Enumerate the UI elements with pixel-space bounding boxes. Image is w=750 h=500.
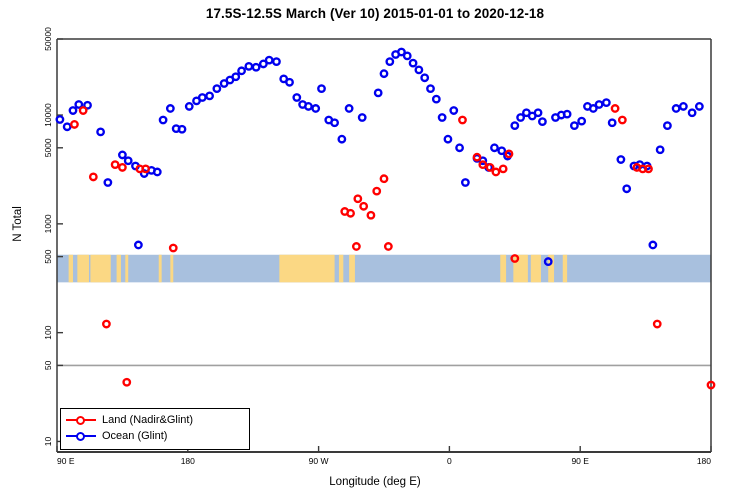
data-point	[186, 103, 192, 109]
data-point	[689, 110, 695, 116]
x-tick-label: 90 E	[571, 456, 589, 466]
data-point	[353, 243, 359, 249]
x-tick-label: 180	[697, 456, 711, 466]
data-point	[294, 94, 300, 100]
data-point	[654, 321, 660, 327]
data-point	[57, 116, 63, 122]
data-point	[70, 107, 76, 113]
data-point	[421, 75, 427, 81]
data-point	[512, 122, 518, 128]
mask-band-land-span	[90, 255, 110, 283]
x-tick-label: 180	[181, 456, 195, 466]
data-point	[603, 99, 609, 105]
legend-item-ocean: Ocean (Glint)	[66, 428, 244, 444]
legend: Land (Nadir&Glint) Ocean (Glint)	[60, 408, 250, 450]
data-point	[71, 121, 77, 127]
data-point	[331, 120, 337, 126]
data-point	[305, 103, 311, 109]
data-point	[339, 136, 345, 142]
mask-band-land-span	[531, 255, 541, 283]
data-point	[97, 129, 103, 135]
mask-band-land-span	[563, 255, 567, 283]
data-point	[535, 110, 541, 116]
data-point	[539, 118, 545, 124]
data-point	[387, 58, 393, 64]
data-point	[125, 158, 131, 164]
chart-root: 17.5S-12.5S March (Ver 10) 2015-01-01 to…	[0, 0, 750, 500]
data-point	[624, 186, 630, 192]
data-point	[619, 117, 625, 123]
data-point	[206, 93, 212, 99]
mask-band-land-span	[159, 255, 162, 283]
data-point	[673, 105, 679, 111]
data-point	[381, 176, 387, 182]
data-point	[416, 67, 422, 73]
x-tick-label: 90 W	[309, 456, 329, 466]
data-point	[233, 74, 239, 80]
data-point	[462, 179, 468, 185]
data-point	[368, 212, 374, 218]
y-tick-label: 50	[43, 360, 53, 370]
mask-band-land-span	[170, 255, 173, 283]
data-point	[680, 103, 686, 109]
y-tick-label: 50000	[43, 27, 53, 51]
data-point	[105, 179, 111, 185]
data-point	[359, 114, 365, 120]
data-point	[410, 60, 416, 66]
data-point	[273, 58, 279, 64]
data-point	[253, 64, 259, 70]
data-point	[346, 105, 352, 111]
data-point	[445, 136, 451, 142]
mask-band-land-span	[500, 255, 506, 283]
data-point	[103, 321, 109, 327]
data-point	[80, 107, 86, 113]
data-point	[578, 118, 584, 124]
data-point	[433, 96, 439, 102]
data-point	[439, 114, 445, 120]
data-point	[355, 196, 361, 202]
data-point	[609, 120, 615, 126]
data-point	[246, 63, 252, 69]
data-point	[170, 245, 176, 251]
data-point	[160, 117, 166, 123]
data-point	[64, 124, 70, 130]
data-point	[427, 85, 433, 91]
data-point	[286, 79, 292, 85]
data-point	[318, 85, 324, 91]
mask-band-land-span	[513, 255, 528, 283]
data-point	[612, 105, 618, 111]
x-tick-label: 0	[447, 456, 452, 466]
y-tick-label: 100	[43, 325, 53, 339]
y-tick-label: 1000	[43, 214, 53, 233]
data-point	[596, 101, 602, 107]
mask-band-land-span	[117, 255, 121, 283]
data-point	[119, 152, 125, 158]
data-point	[474, 154, 480, 160]
data-point	[696, 103, 702, 109]
data-point	[142, 166, 148, 172]
data-point	[500, 166, 506, 172]
data-point	[238, 68, 244, 74]
data-point	[459, 117, 465, 123]
y-axis-label: N Total	[12, 184, 24, 264]
data-point	[404, 53, 410, 59]
data-point	[179, 126, 185, 132]
legend-marker-land	[66, 414, 96, 426]
y-tick-label: 10000	[43, 103, 53, 127]
data-point	[360, 203, 366, 209]
data-point	[90, 174, 96, 180]
data-point	[571, 122, 577, 128]
data-point	[119, 164, 125, 170]
data-point	[124, 379, 130, 385]
data-point	[650, 242, 656, 248]
mask-band-land-span	[125, 255, 128, 283]
data-point	[499, 148, 505, 154]
data-point	[618, 156, 624, 162]
x-axis-label: Longitude (deg E)	[0, 476, 750, 488]
data-point	[564, 111, 570, 117]
data-point	[456, 145, 462, 151]
data-point	[657, 147, 663, 153]
data-point	[167, 105, 173, 111]
data-point	[374, 188, 380, 194]
y-tick-label: 10	[43, 436, 53, 446]
data-point	[664, 122, 670, 128]
data-point	[451, 107, 457, 113]
data-point	[154, 169, 160, 175]
data-point	[312, 105, 318, 111]
data-point	[491, 145, 497, 151]
data-point	[375, 90, 381, 96]
y-tick-label: 5000	[43, 138, 53, 157]
mask-band-land-span	[339, 255, 343, 283]
data-point	[347, 210, 353, 216]
data-point	[385, 243, 391, 249]
legend-item-land: Land (Nadir&Glint)	[66, 412, 244, 428]
mask-band-land-span	[349, 255, 355, 283]
mask-band-land-span	[279, 255, 334, 283]
mask-band-land-span	[69, 255, 73, 283]
x-tick-label: 90 E	[57, 456, 75, 466]
series-ocean-glint	[57, 49, 703, 265]
mask-band-land-span	[77, 255, 89, 283]
data-point	[214, 85, 220, 91]
mask-band-ocean	[57, 255, 711, 283]
legend-marker-ocean	[66, 430, 96, 442]
legend-label-ocean: Ocean (Glint)	[102, 430, 167, 442]
legend-label-land: Land (Nadir&Glint)	[102, 414, 193, 426]
data-point	[199, 94, 205, 100]
data-point	[493, 169, 499, 175]
data-point	[381, 70, 387, 76]
data-point	[266, 57, 272, 63]
y-tick-label: 500	[43, 249, 53, 263]
data-point	[112, 161, 118, 167]
data-point	[135, 242, 141, 248]
